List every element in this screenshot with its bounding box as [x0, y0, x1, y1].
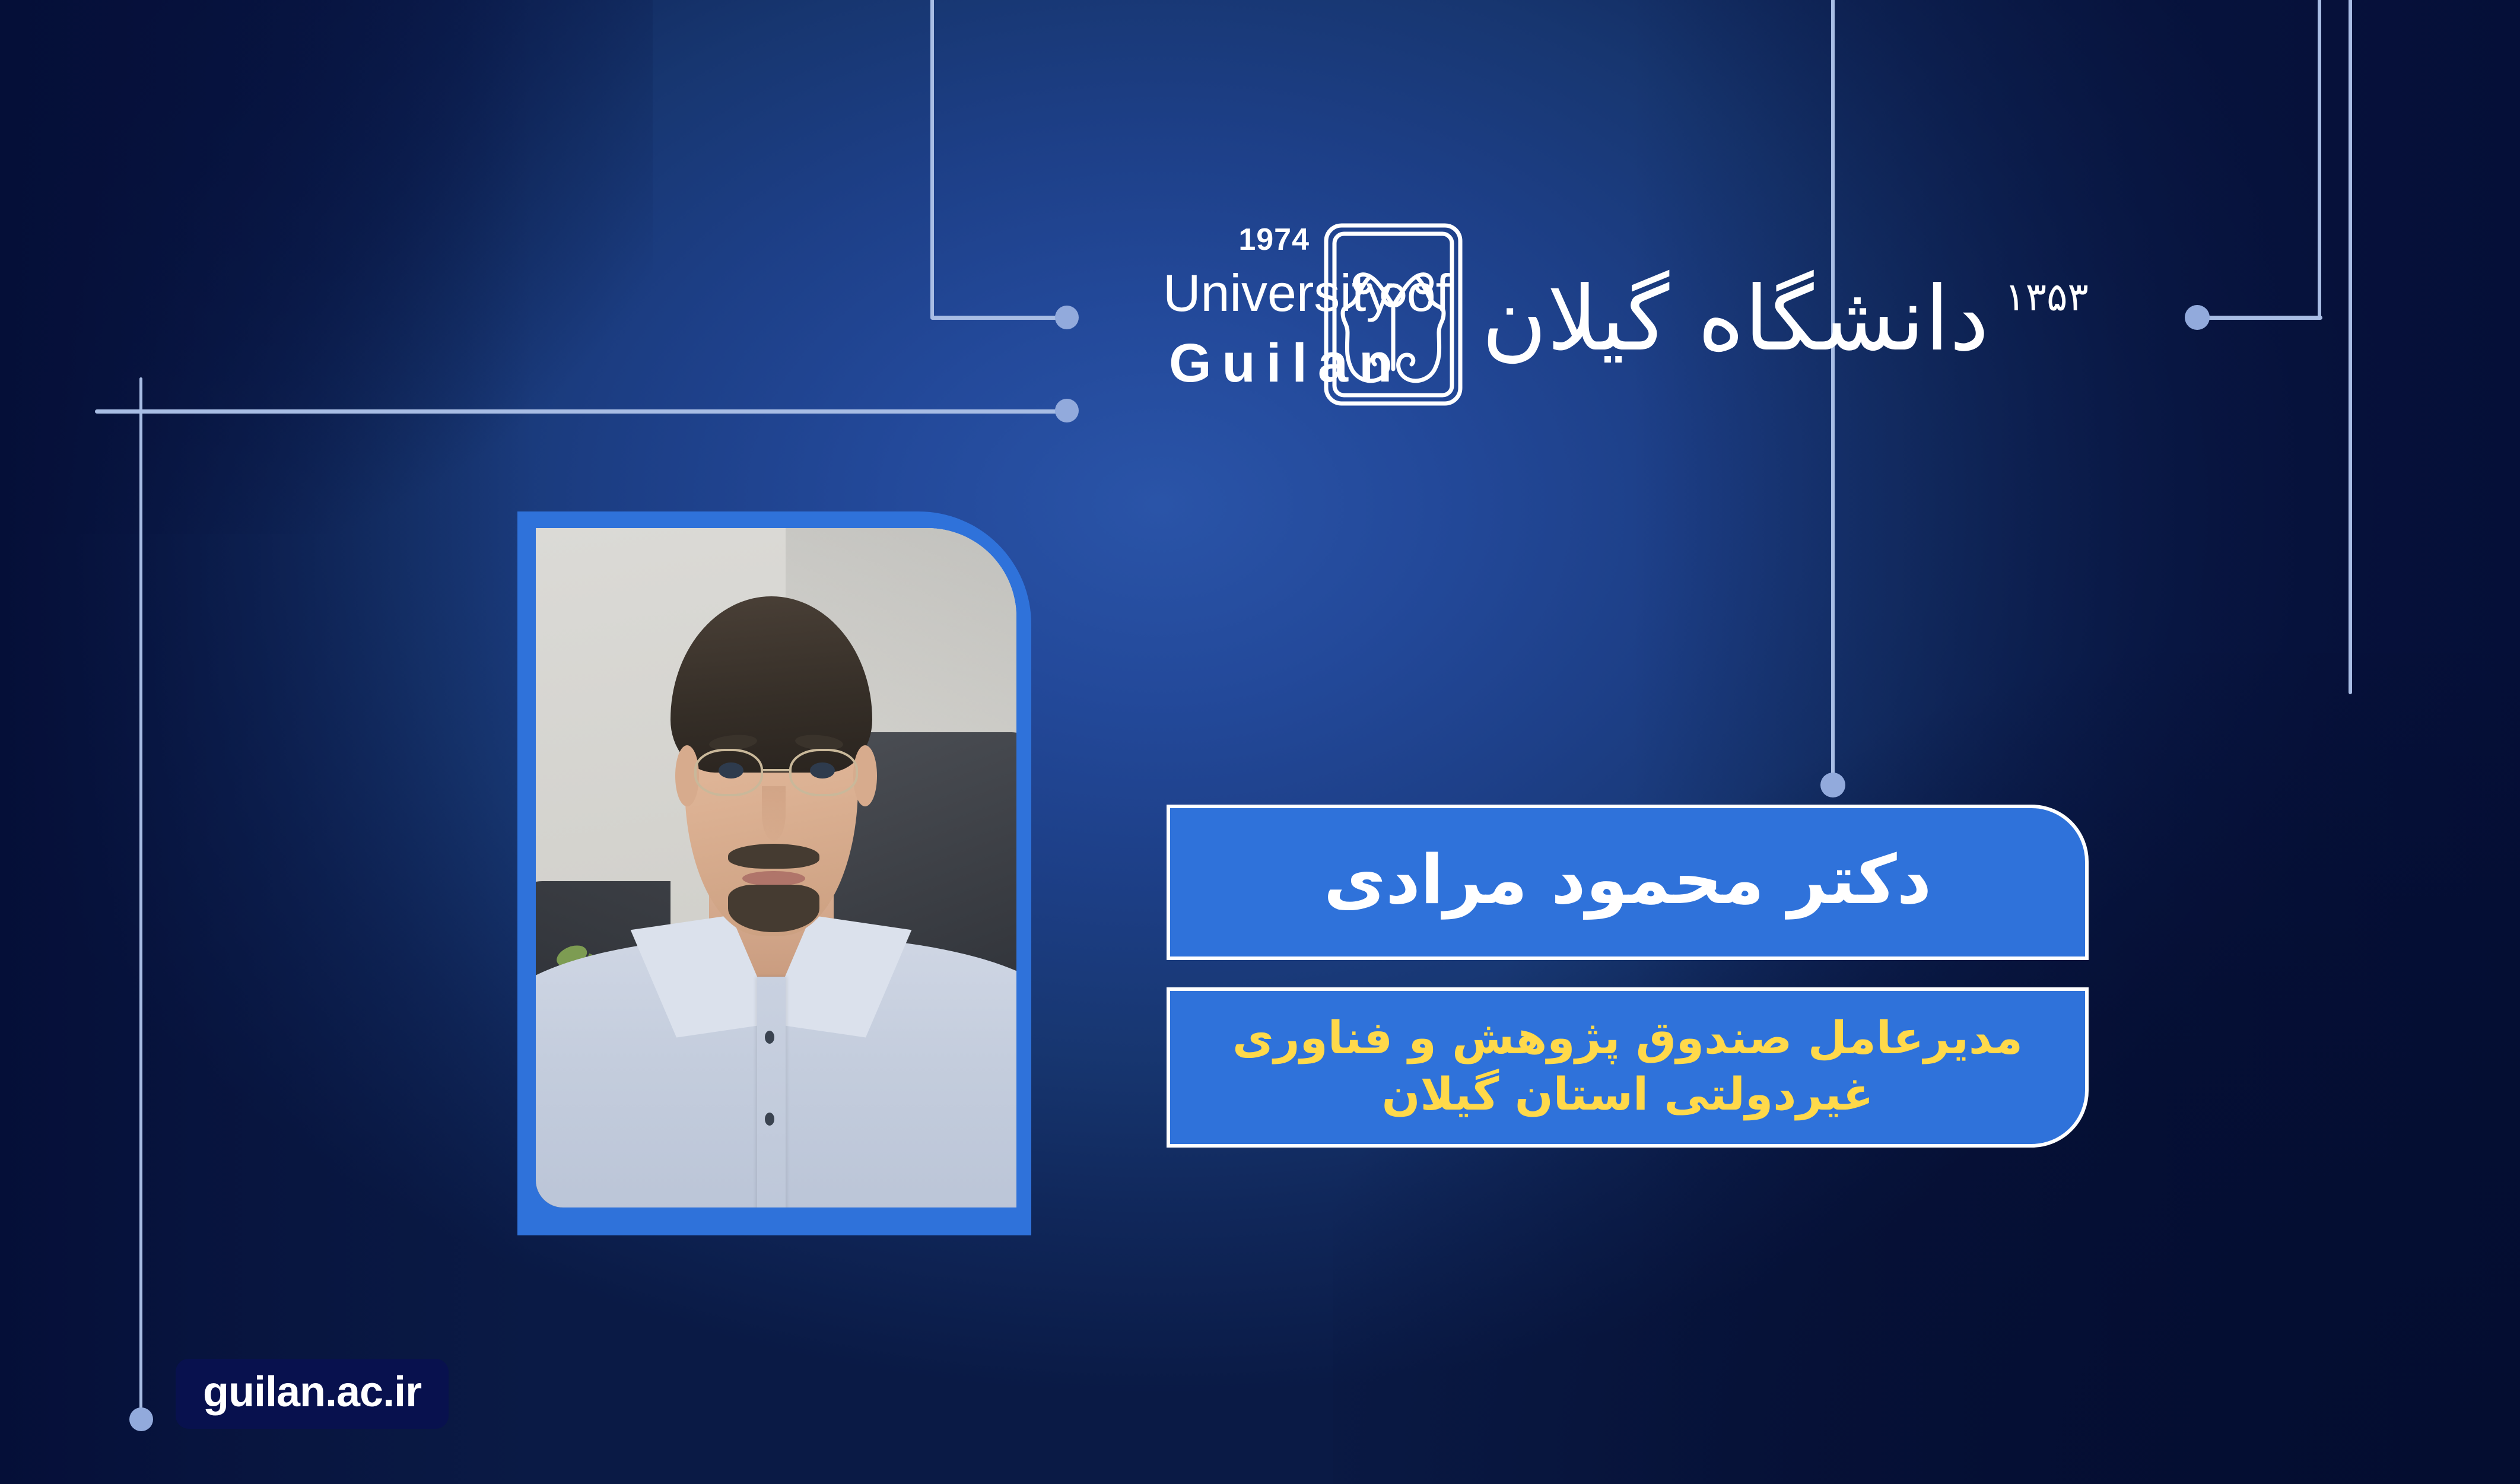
logo-persian-block: ۱۳۵۳ دانشگاه گیلان — [1482, 217, 2089, 412]
website-url-badge[interactable]: guilan.ac.ir — [176, 1359, 449, 1429]
logo-university-word: University of — [1163, 267, 1450, 319]
portrait-photo — [536, 528, 1016, 1207]
decorative-line-top-right-horizontal — [2199, 316, 2322, 320]
decorative-dot-top-center — [1055, 306, 1079, 329]
logo-founding-year-gregorian: 1974 — [1238, 224, 1310, 255]
person-name-banner: دکتر محمود مرادی — [1167, 805, 2089, 960]
decorative-dot-right-vertical-end — [1820, 773, 1845, 797]
announcement-card: 1974 University of Guilan ۱۳۵۳ دانشگاه گ… — [0, 0, 2520, 1484]
person-title-banner: مدیرعامل صندوق پژوهش و فناوری غیردولتی ا… — [1167, 987, 2089, 1148]
decorative-line-top-right-vertical-inner — [2318, 0, 2321, 319]
university-logo-lockup: 1974 University of Guilan ۱۳۵۳ دانشگاه گ… — [1163, 196, 2089, 433]
logo-english-block: 1974 University of Guilan — [1163, 220, 1314, 409]
decorative-line-left-horizontal — [95, 409, 1068, 414]
decorative-line-top-center-vertical — [930, 0, 934, 319]
logo-university-name-persian: دانشگاه گیلان — [1482, 275, 1989, 364]
person-title-line-2: غیردولتی استان گیلان — [1232, 1066, 2023, 1122]
portrait-illustration — [536, 528, 1016, 1207]
person-title-line-1: مدیرعامل صندوق پژوهش و فناوری — [1232, 1009, 2023, 1066]
decorative-line-left-vertical — [139, 377, 142, 1417]
logo-guilan-word: Guilan — [1169, 336, 1403, 390]
person-title: مدیرعامل صندوق پژوهش و فناوری غیردولتی ا… — [1209, 1009, 2046, 1126]
background-vignette-top-left — [0, 0, 653, 534]
decorative-line-top-center-horizontal — [930, 316, 1066, 320]
person-name: دکتر محمود مرادی — [1324, 844, 1931, 920]
logo-founding-year-persian: ۱۳۵۳ — [2004, 274, 2089, 320]
portrait-frame — [517, 511, 1031, 1235]
background-vignette-left — [0, 0, 534, 1484]
decorative-dot-top-right — [2185, 305, 2210, 330]
decorative-dot-left-horizontal-end — [1055, 399, 1079, 422]
decorative-dot-left-vertical-end — [129, 1407, 153, 1431]
decorative-line-top-right-vertical-outer — [2349, 0, 2352, 694]
